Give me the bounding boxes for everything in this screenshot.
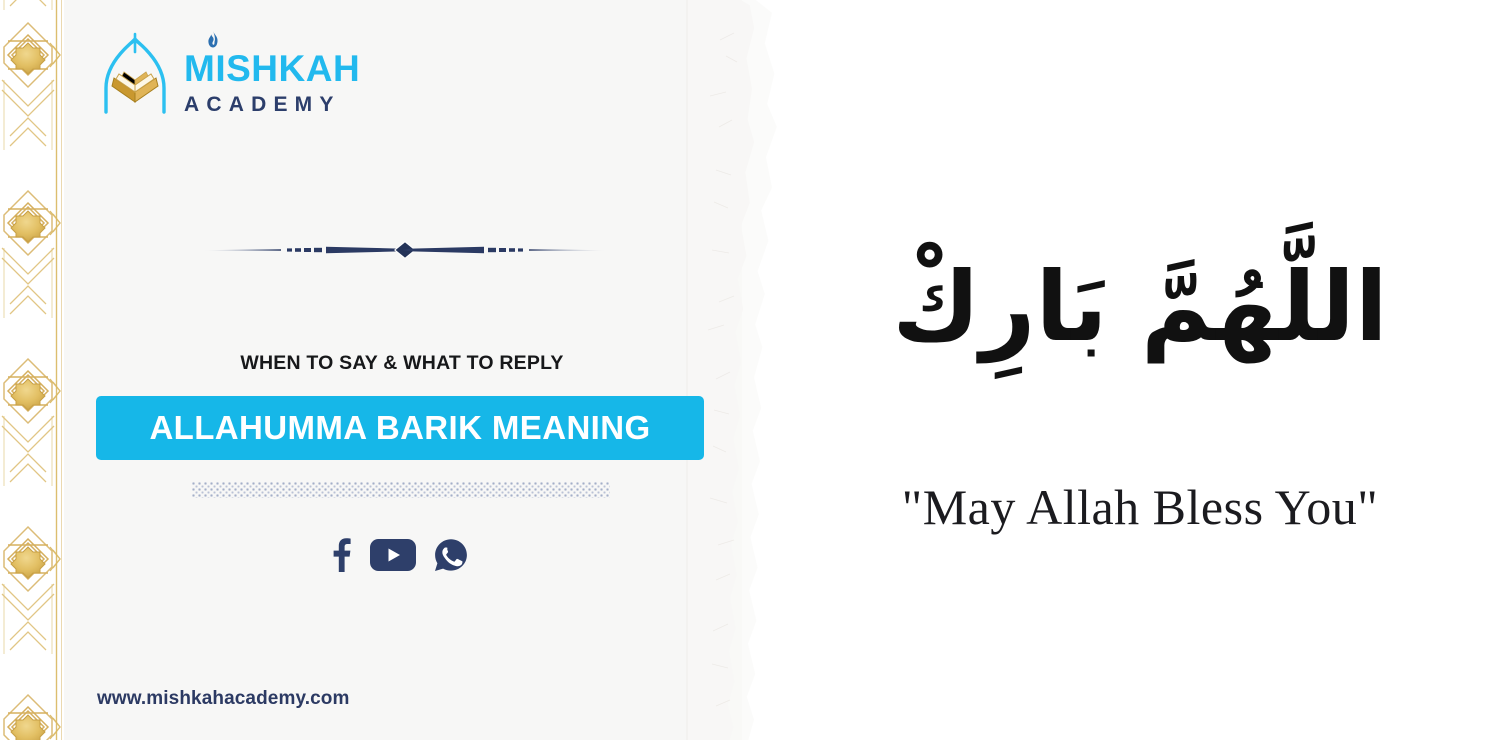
youtube-icon[interactable] [370,539,416,571]
dotted-pattern-strip [192,482,610,498]
poster-canvas: MISHKAH ACADEMY [0,0,1504,740]
flame-icon [205,31,221,51]
title-banner: ALLAHUMMA BARIK MEANING [96,396,704,460]
logo-secondary-text: ACADEMY [184,94,394,115]
translation-text: "May Allah Bless You" [800,478,1480,536]
ornamental-divider [203,237,607,263]
mosque-dome-book-icon [92,30,178,120]
social-links [330,535,470,575]
islamic-pattern-svg [0,0,64,740]
ornamental-border [0,0,64,740]
whatsapp-icon[interactable] [434,538,468,572]
kicker-text: WHEN TO SAY & WHAT TO REPLY [96,352,708,375]
arabic-calligraphy: اللَّهُمَّ بَارِكْ [800,238,1480,377]
title-text: ALLAHUMMA BARIK MEANING [149,409,650,447]
facebook-icon[interactable] [330,538,352,572]
logo-primary-text: MISHKAH [184,50,394,87]
brand-logo[interactable]: MISHKAH ACADEMY [92,26,392,122]
website-url[interactable]: www.mishkahacademy.com [97,688,349,710]
